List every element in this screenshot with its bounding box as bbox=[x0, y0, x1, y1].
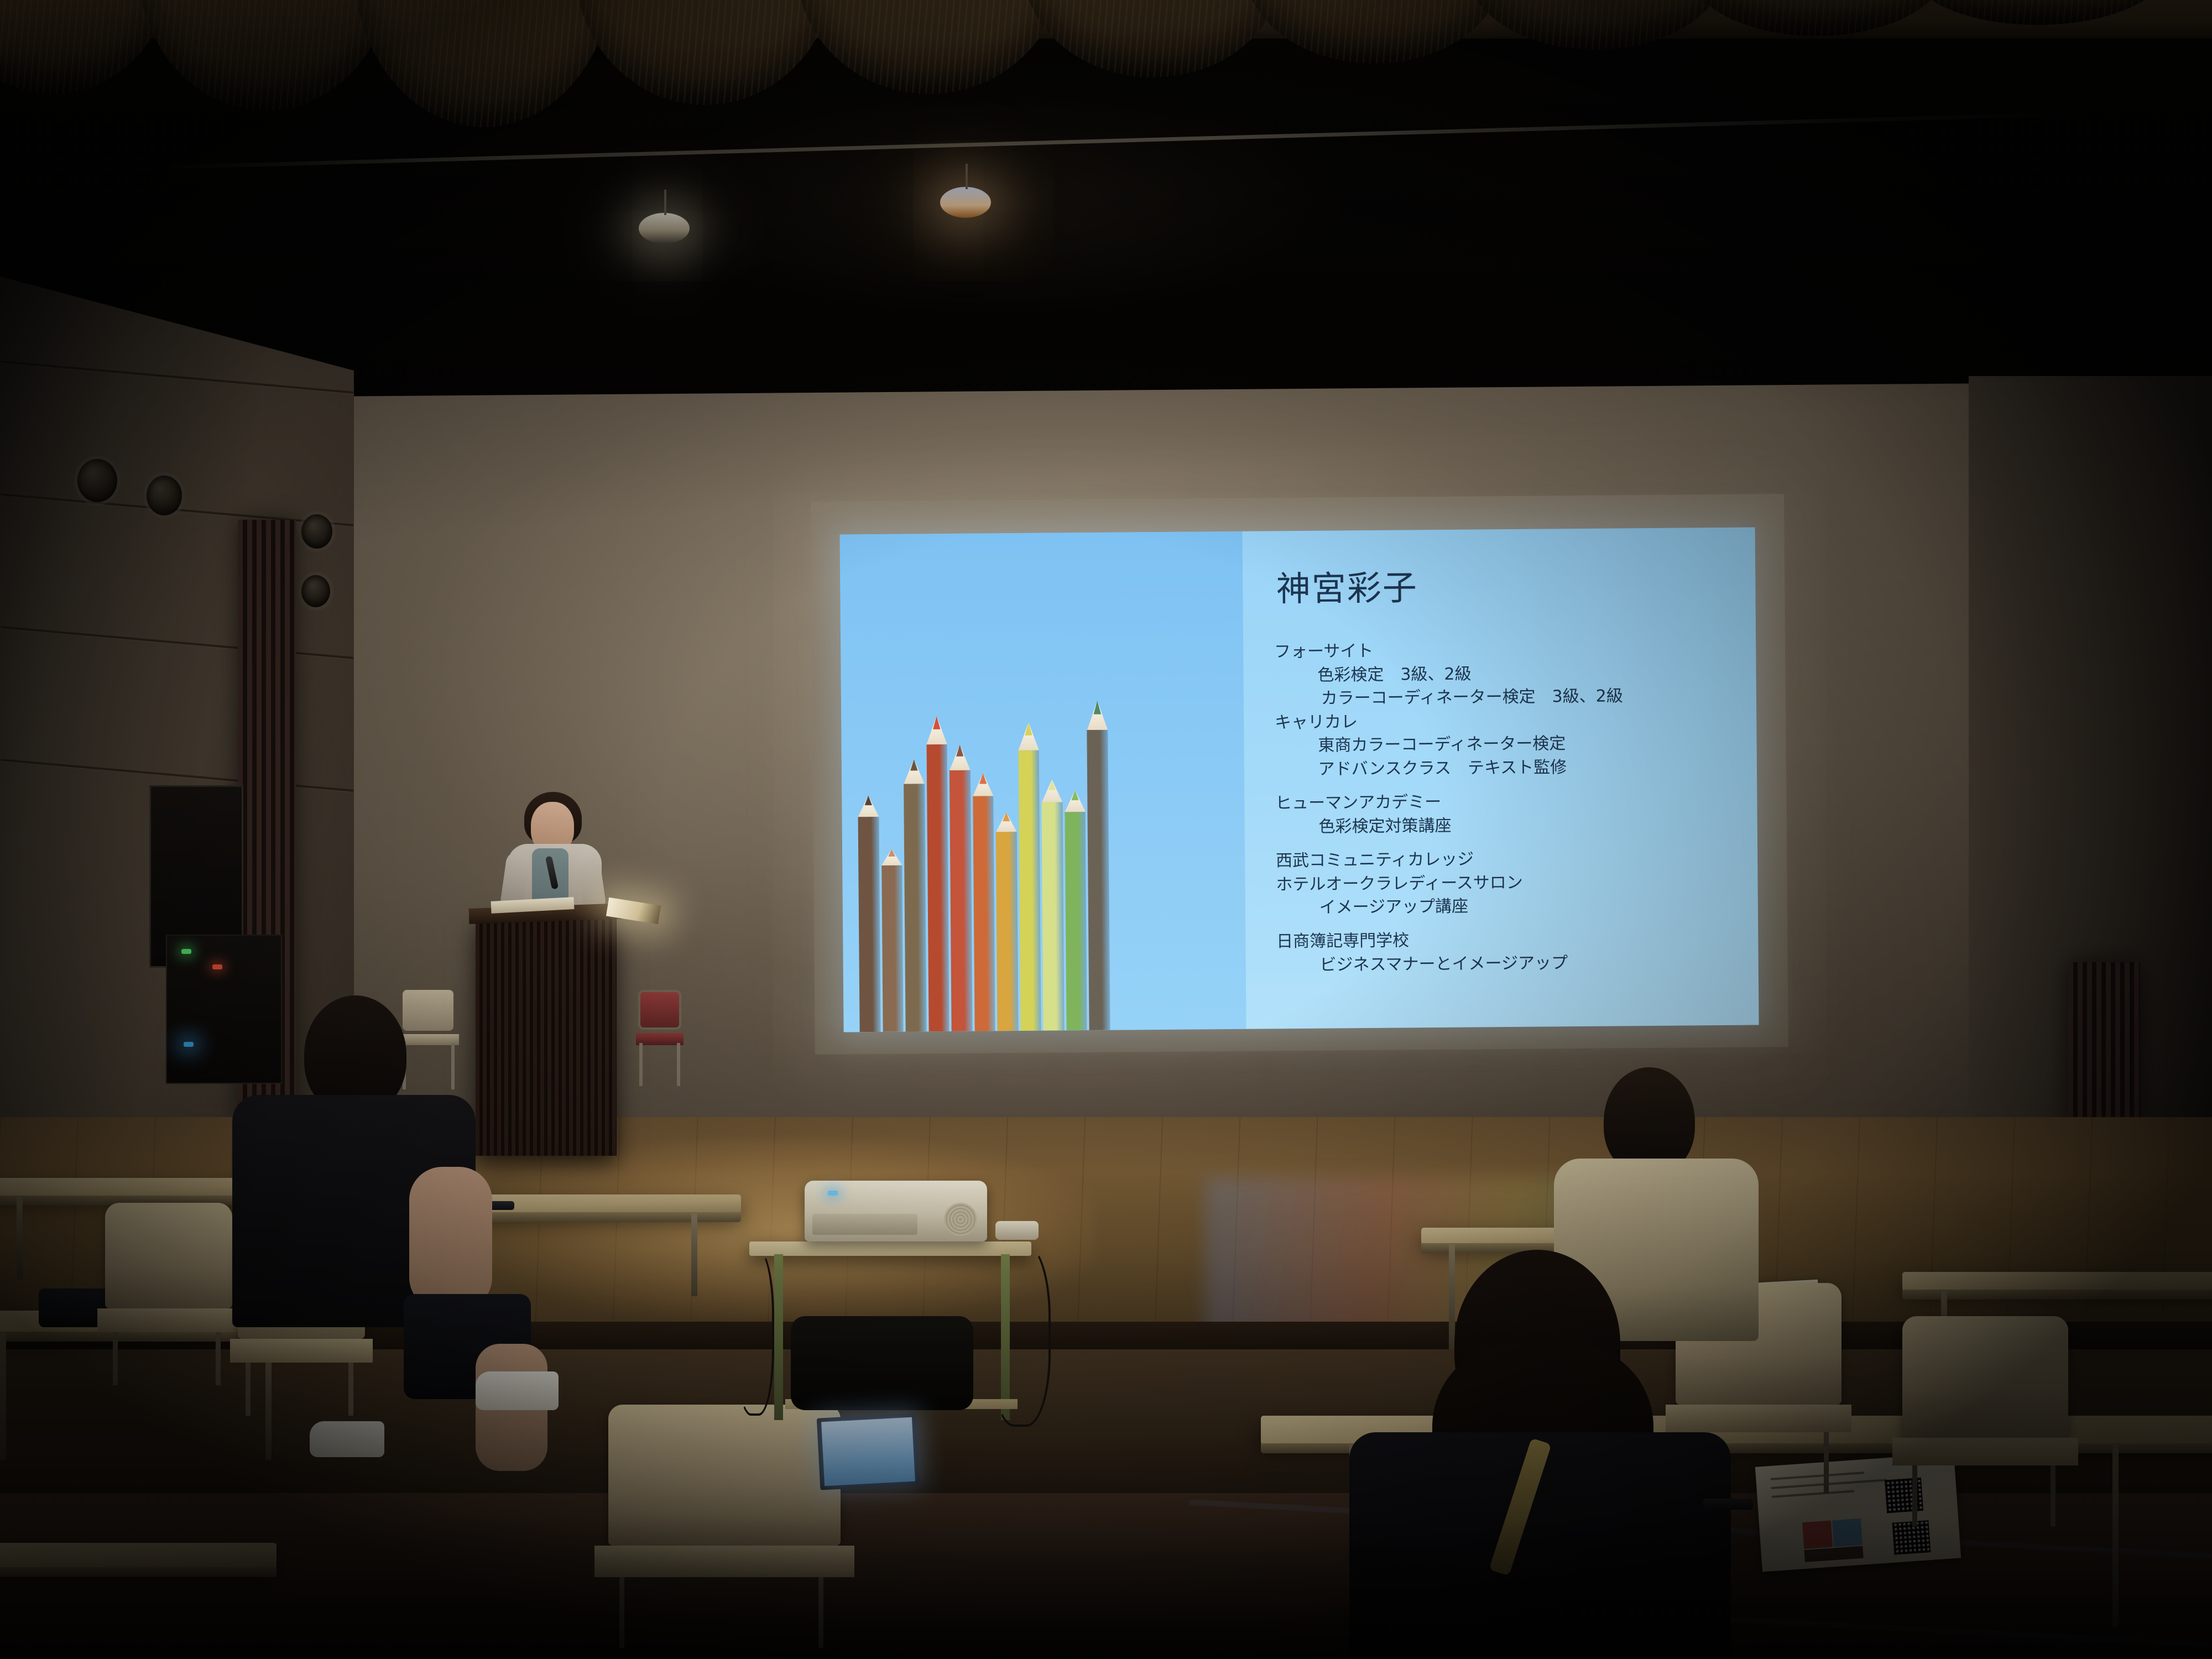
auditorium-scene: 神宮彩子 フォーサイト色彩検定 3級、2級カラーコーディネーター検定 3級、2級… bbox=[0, 0, 2212, 1659]
pencil-tip bbox=[1093, 701, 1101, 714]
pencil bbox=[950, 744, 973, 1031]
handout-color-swatch bbox=[1832, 1519, 1863, 1547]
slide-body-line: イメージアップ講座 bbox=[1276, 893, 1748, 920]
pencil-barrel bbox=[996, 832, 1018, 1031]
valance-scallop bbox=[1465, 0, 1725, 50]
pencil-tip bbox=[1025, 723, 1032, 735]
slide-body-line: 色彩検定対策講座 bbox=[1275, 812, 1747, 839]
table-leg bbox=[691, 1213, 697, 1296]
laptop-screen bbox=[821, 1417, 915, 1486]
pencil-barrel bbox=[881, 865, 904, 1032]
pencil-barrel bbox=[858, 817, 881, 1032]
handout-color-swatch bbox=[1802, 1520, 1833, 1549]
pencil-tip bbox=[1048, 780, 1056, 790]
person-shoe bbox=[476, 1371, 559, 1410]
pencil bbox=[996, 812, 1019, 1031]
spotlight-housing bbox=[639, 213, 690, 244]
equipment-bag bbox=[791, 1316, 973, 1410]
pencil bbox=[1087, 701, 1110, 1030]
table-edge bbox=[1902, 1290, 2212, 1300]
status-led-blue bbox=[184, 1042, 194, 1047]
valance-scallop bbox=[138, 0, 393, 111]
wall-vent-icon bbox=[301, 575, 330, 607]
valance-scallop bbox=[1244, 0, 1504, 64]
slide-image-panel bbox=[840, 531, 1246, 1032]
audience-member-right-front bbox=[1327, 1250, 1747, 1659]
slide-body-line: 西武コミュニティカレッジ bbox=[1276, 846, 1747, 873]
slide-body-line: ホテルオークラレディースサロン bbox=[1276, 869, 1747, 896]
chair-back bbox=[105, 1203, 232, 1308]
audience-chair[interactable] bbox=[1902, 1316, 2068, 1526]
chair-seat bbox=[97, 1308, 240, 1332]
chair-seat bbox=[594, 1546, 854, 1577]
pencil-tip bbox=[1003, 812, 1010, 822]
pencil-barrel bbox=[1087, 730, 1110, 1030]
status-led-red bbox=[212, 964, 222, 969]
phone-on-table bbox=[1703, 1499, 1753, 1510]
person-arm bbox=[409, 1167, 492, 1311]
pencil bbox=[973, 773, 995, 1031]
projector-table bbox=[749, 1241, 1031, 1256]
stage-valance-curtain bbox=[0, 0, 2212, 111]
chair-back bbox=[1902, 1316, 2068, 1438]
slide-body-line: ビジネスマナーとイメージアップ bbox=[1276, 951, 1748, 978]
chair-leg bbox=[639, 1043, 643, 1086]
audience-chair[interactable] bbox=[105, 1203, 232, 1385]
pencil-barrel bbox=[926, 744, 950, 1031]
person-shoe bbox=[310, 1421, 384, 1457]
pencil-tip bbox=[864, 795, 872, 805]
chair-back bbox=[608, 1405, 841, 1546]
pencil-barrel bbox=[904, 784, 926, 1031]
table-leg bbox=[17, 1197, 23, 1280]
stage-spotlight-cool-icon bbox=[639, 213, 690, 244]
spotlight-stem bbox=[966, 164, 968, 189]
presentation-slide: 神宮彩子 フォーサイト色彩検定 3級、2級カラーコーディネーター検定 3級、2級… bbox=[840, 528, 1759, 1032]
chair-leg bbox=[216, 1332, 221, 1385]
laptop-lid bbox=[817, 1413, 920, 1490]
stage-chair-red[interactable] bbox=[636, 990, 683, 1084]
table-leg bbox=[774, 1254, 783, 1420]
stage-spotlight-warm-icon bbox=[940, 187, 991, 218]
chair-leg bbox=[1912, 1465, 1917, 1526]
handout-color-swatch bbox=[1804, 1546, 1864, 1562]
valance-scallop bbox=[575, 0, 835, 105]
pencil bbox=[881, 849, 904, 1032]
spotlight-stem bbox=[664, 190, 666, 215]
chair-leg bbox=[677, 1043, 680, 1086]
pencil bbox=[904, 759, 926, 1032]
power-cable bbox=[735, 1250, 774, 1416]
valance-scallop bbox=[354, 0, 614, 127]
audience-table bbox=[0, 1543, 276, 1568]
projector[interactable] bbox=[805, 1181, 987, 1241]
audience-member-left bbox=[221, 995, 487, 1410]
chair-leg bbox=[619, 1577, 624, 1648]
audience-chair[interactable] bbox=[608, 1405, 841, 1648]
slide-body-line: フォーサイト bbox=[1274, 637, 1746, 664]
spotlight-housing bbox=[940, 187, 991, 218]
pencil-tip bbox=[910, 759, 918, 771]
pencil-tip bbox=[979, 773, 987, 784]
wall-vent-icon bbox=[147, 476, 182, 515]
table-leg bbox=[2112, 1444, 2119, 1627]
table-edge bbox=[0, 1567, 276, 1577]
slide-body-line: キャリカレ bbox=[1275, 707, 1746, 734]
audience-table bbox=[1902, 1272, 2212, 1291]
valance-scallop bbox=[796, 0, 1062, 94]
wall-seam bbox=[1, 361, 353, 394]
pencil-barrel bbox=[950, 770, 972, 1031]
chair-leg bbox=[1824, 1432, 1829, 1493]
chair-leg bbox=[2051, 1465, 2056, 1526]
pencil-tip bbox=[933, 716, 941, 729]
wall-seam bbox=[1, 626, 353, 659]
wall-vent-icon bbox=[301, 514, 332, 549]
projection-screen-frame: 神宮彩子 フォーサイト色彩検定 3級、2級カラーコーディネーター検定 3級、2級… bbox=[811, 494, 1788, 1055]
pencil-tip bbox=[1071, 790, 1079, 800]
chair-seat bbox=[1892, 1438, 2078, 1465]
projector-remote[interactable] bbox=[995, 1221, 1039, 1240]
table-leg bbox=[0, 1333, 6, 1460]
slide-body-line: 日商簿記専門学校 bbox=[1276, 927, 1748, 954]
pencil bbox=[858, 795, 880, 1032]
pencil-barrel bbox=[1019, 750, 1041, 1031]
slide-body-line: 色彩検定 3級、2級 bbox=[1274, 660, 1746, 687]
slide-body-line: 東商カラーコーディネーター検定 bbox=[1275, 731, 1746, 758]
projector-ports bbox=[812, 1214, 917, 1235]
wall-vent-icon bbox=[77, 459, 117, 502]
status-led-green bbox=[181, 949, 191, 954]
pencil-barrel bbox=[1065, 812, 1087, 1030]
slide-body-text: フォーサイト色彩検定 3級、2級カラーコーディネーター検定 3級、2級キャリカレ… bbox=[1274, 637, 1748, 978]
pencil-tip bbox=[956, 744, 964, 757]
valance-scallop bbox=[1023, 0, 1283, 77]
slide-body-line: アドバンスクラス テキスト監修 bbox=[1275, 755, 1747, 782]
colored-pencils-illustration bbox=[857, 671, 1230, 1032]
pencil bbox=[1018, 722, 1041, 1031]
chair-leg bbox=[113, 1332, 118, 1385]
laptop[interactable] bbox=[817, 1413, 920, 1490]
pencil bbox=[1041, 780, 1064, 1031]
lectern bbox=[476, 918, 617, 1156]
pencil bbox=[926, 716, 950, 1032]
chair-back bbox=[638, 990, 681, 1030]
slide-body-line: カラーコーディネーター検定 3級、2級 bbox=[1275, 684, 1746, 711]
pencil-barrel bbox=[973, 796, 995, 1031]
slide-text-panel: 神宮彩子 フォーサイト色彩検定 3級、2級カラーコーディネーター検定 3級、2級… bbox=[1243, 528, 1759, 1029]
slide-title: 神宮彩子 bbox=[1276, 560, 1418, 611]
pencil-barrel bbox=[1042, 802, 1065, 1031]
projector-vent-icon bbox=[944, 1203, 977, 1236]
pencil-tip bbox=[888, 849, 896, 857]
projector-power-led bbox=[828, 1191, 838, 1196]
power-cable bbox=[990, 1244, 1051, 1427]
chair-leg bbox=[818, 1577, 823, 1648]
pencil bbox=[1065, 790, 1087, 1030]
slide-body-line: ヒューマンアカデミー bbox=[1275, 789, 1747, 816]
